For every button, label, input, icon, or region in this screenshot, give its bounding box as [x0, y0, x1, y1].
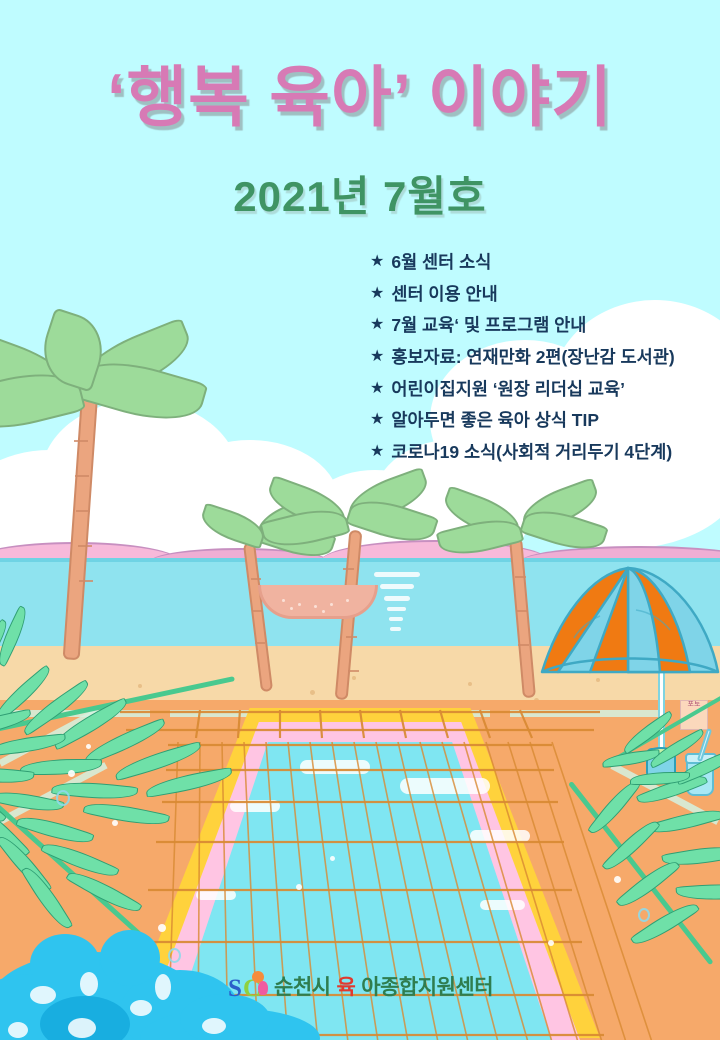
logo-center-label-part1: 육: [336, 971, 355, 1001]
list-item: ★ 홍보자료: 연재만화 2편(장난감 도서관): [370, 347, 710, 368]
star-icon: ★: [370, 442, 384, 462]
logo-city-label: 순천시: [274, 971, 330, 1001]
star-icon: ★: [370, 379, 384, 399]
list-item-label: 알아두면 좋은 육아 상식 TIP: [391, 410, 599, 431]
star-icon: ★: [370, 284, 384, 304]
fern-right-upper: [600, 640, 720, 840]
list-item-label: 7월 교육‘ 및 프로그램 안내: [391, 315, 586, 336]
logo-center-label-part2: 아종합지원센터: [361, 971, 493, 1001]
list-item: ★ 어린이집지원 ‘원장 리더십 교육’: [370, 379, 710, 400]
star-icon: ★: [370, 347, 384, 367]
issue-subtitle: 2021년 7월호: [0, 163, 720, 224]
list-item-label: 홍보자료: 연재만화 2편(장난감 도서관): [391, 347, 674, 368]
list-item: ★ 알아두면 좋은 육아 상식 TIP: [370, 410, 710, 431]
star-icon: ★: [370, 315, 384, 335]
list-item-label: 6월 센터 소식: [391, 252, 491, 273]
list-item-label: 코로나19 소식(사회적 거리두기 4단계): [391, 442, 672, 463]
list-item: ★ 7월 교육‘ 및 프로그램 안내: [370, 315, 710, 336]
star-icon: ★: [370, 410, 384, 430]
list-item-label: 센터 이용 안내: [391, 284, 497, 305]
star-icon: ★: [370, 252, 384, 272]
sc-emblem-icon: SC: [228, 969, 268, 1003]
page-title: ‘행복 육아’ 이야기: [0, 44, 720, 140]
list-item-label: 어린이집지원 ‘원장 리더십 교육’: [391, 379, 625, 400]
list-item: ★ 센터 이용 안내: [370, 284, 710, 305]
list-item: ★ 6월 센터 소식: [370, 252, 710, 273]
center-logo: SC 순천시 육 아종합지원센터: [228, 966, 492, 1006]
list-item: ★ 코로나19 소식(사회적 거리두기 4단계): [370, 442, 710, 463]
palm-tree-center: [306, 474, 436, 694]
newsletter-poster: 포토: [0, 0, 720, 1040]
contents-list: ★ 6월 센터 소식 ★ 센터 이용 안내 ★ 7월 교육‘ 및 프로그램 안내…: [370, 252, 710, 473]
